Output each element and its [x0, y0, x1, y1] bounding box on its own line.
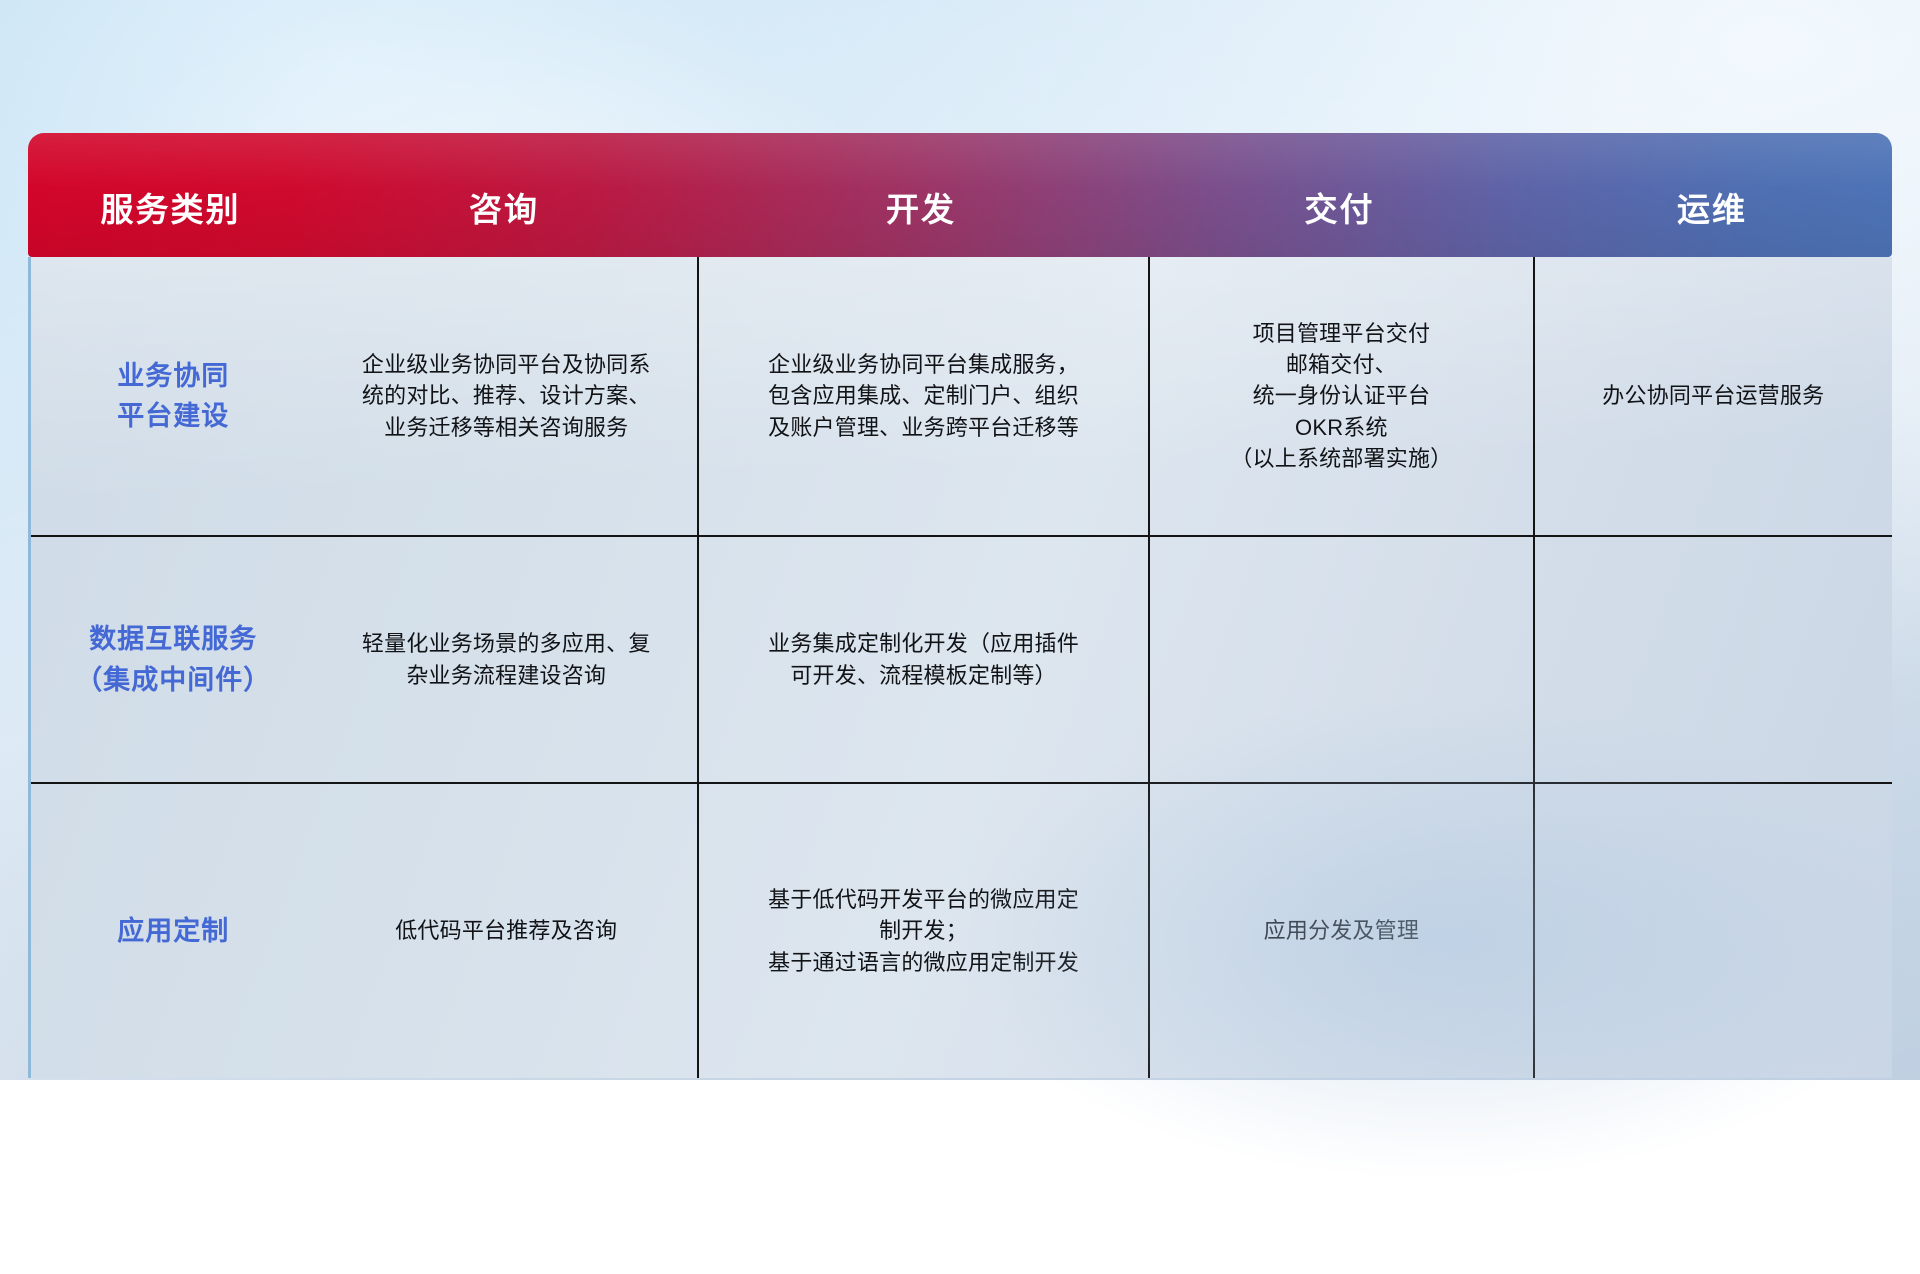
cell-row2-consulting: 轻量化业务场景的多应用、复 杂业务流程建设咨询: [316, 537, 697, 782]
column-header-operations: 运维: [1532, 183, 1892, 257]
service-matrix-table: 服务类别 咨询 开发 交付 运维 业务协同 平台建设 企业级业务协同平台及协同系…: [28, 133, 1892, 950]
cell-row1-delivery: 项目管理平台交付 邮箱交付、 统一身份认证平台 OKR系统 （以上系统部署实施）: [1148, 257, 1532, 535]
row-label-business-collaboration: 业务协同 平台建设: [31, 257, 316, 535]
table-row: 业务协同 平台建设 企业级业务协同平台及协同系 统的对比、推荐、设计方案、 业务…: [31, 257, 1892, 535]
cell-row3-development: 基于低代码开发平台的微应用定 制开发； 基于通过语言的微应用定制开发: [697, 784, 1148, 1078]
cell-row2-development: 业务集成定制化开发（应用插件 可开发、流程模板定制等）: [697, 537, 1148, 782]
cell-row1-development: 企业级业务协同平台集成服务， 包含应用集成、定制门户、组织 及账户管理、业务跨平…: [697, 257, 1148, 535]
cell-row3-consulting: 低代码平台推荐及咨询: [316, 784, 697, 1078]
table-body: 业务协同 平台建设 企业级业务协同平台及协同系 统的对比、推荐、设计方案、 业务…: [28, 257, 1892, 1078]
column-header-delivery: 交付: [1147, 183, 1532, 257]
column-header-category: 服务类别: [28, 183, 313, 257]
cell-row1-operations: 办公协同平台运营服务: [1533, 257, 1892, 535]
table-row: 应用定制 低代码平台推荐及咨询 基于低代码开发平台的微应用定 制开发； 基于通过…: [31, 782, 1892, 1078]
row-label-application-customization: 应用定制: [31, 784, 316, 1078]
row-label-data-interconnection: 数据互联服务 （集成中间件）: [31, 537, 316, 782]
table-row: 数据互联服务 （集成中间件） 轻量化业务场景的多应用、复 杂业务流程建设咨询 业…: [31, 535, 1892, 782]
cell-row1-consulting: 企业级业务协同平台及协同系 统的对比、推荐、设计方案、 业务迁移等相关咨询服务: [316, 257, 697, 535]
slide-canvas: 服务类别 咨询 开发 交付 运维 业务协同 平台建设 企业级业务协同平台及协同系…: [0, 0, 1920, 1080]
column-header-consulting: 咨询: [313, 183, 695, 257]
table-header-row: 服务类别 咨询 开发 交付 运维: [28, 133, 1892, 257]
cell-row2-operations: [1533, 537, 1892, 782]
cell-row2-delivery: [1148, 537, 1532, 782]
cell-row3-delivery: 应用分发及管理: [1148, 784, 1532, 1078]
cell-row3-operations: [1533, 784, 1892, 1078]
column-header-development: 开发: [695, 183, 1147, 257]
